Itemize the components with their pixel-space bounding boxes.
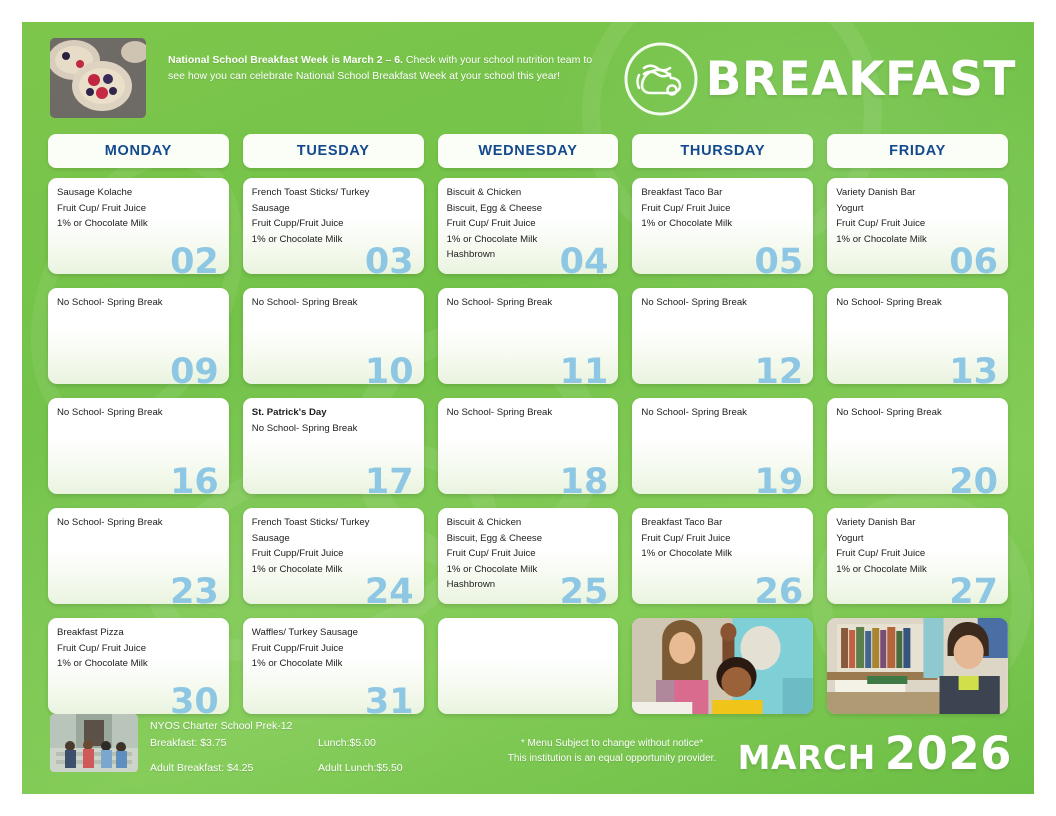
poster-header: National School Breakfast Week is March …: [22, 22, 1034, 130]
promo-text: National School Breakfast Week is March …: [168, 53, 608, 85]
menu-line: No School- Spring Break: [836, 405, 999, 421]
menu-line: Hashbrown: [447, 577, 610, 593]
day-number: 30: [170, 685, 219, 714]
weekday-header-tuesday: TUESDAY: [243, 134, 424, 168]
calendar-day-cell: French Toast Sticks/ TurkeySausageFruit …: [243, 178, 424, 274]
student-price-row: Breakfast: $3.75 Lunch:$5.00: [150, 736, 480, 751]
weekday-header-monday: MONDAY: [48, 134, 229, 168]
equal-opportunity-notice: This institution is an equal opportunity…: [462, 751, 762, 766]
menu-line: 1% or Chocolate Milk: [57, 216, 220, 232]
menu-line: Breakfast Pizza: [57, 625, 220, 641]
menu-line: Biscuit & Chicken: [447, 515, 610, 531]
menu-line: Biscuit, Egg & Cheese: [447, 531, 610, 547]
calendar-day-cell: Biscuit & ChickenBiscuit, Egg & CheeseFr…: [438, 178, 619, 274]
menu-line: Sausage: [252, 531, 415, 547]
calendar-day-cell: No School- Spring Break13: [827, 288, 1008, 384]
menu-line: Breakfast Taco Bar: [641, 185, 804, 201]
calendar-day-cell: Variety Danish BarYogurtFruit Cup/ Fruit…: [827, 508, 1008, 604]
menu-items: Biscuit & ChickenBiscuit, Egg & CheeseFr…: [447, 185, 610, 263]
menu-line: Fruit Cupp/Fruit Juice: [252, 641, 415, 657]
menu-items: St. Patrick's DayNo School- Spring Break: [252, 405, 415, 436]
menu-change-notice: * Menu Subject to change without notice*: [462, 736, 762, 751]
poster-footer: NYOS Charter School Prek-12 Breakfast: $…: [22, 702, 1034, 794]
calendar-empty-cell: [438, 618, 619, 714]
day-number: 19: [754, 465, 803, 494]
menu-line: Sausage: [252, 201, 415, 217]
day-number: 26: [754, 575, 803, 604]
menu-line: 1% or Chocolate Milk: [641, 546, 804, 562]
menu-line: 1% or Chocolate Milk: [836, 232, 999, 248]
menu-line: No School- Spring Break: [57, 405, 220, 421]
calendar-day-cell: Sausage KolacheFruit Cup/ Fruit Juice1% …: [48, 178, 229, 274]
adult-price-row: Adult Breakfast: $4.25 Adult Lunch:$5.50: [150, 761, 480, 776]
menu-line: Fruit Cup/ Fruit Juice: [447, 546, 610, 562]
holiday-label: St. Patrick's Day: [252, 405, 415, 421]
brand-lockup: BREAKFAST: [622, 40, 1016, 118]
day-number: 02: [170, 245, 219, 274]
students-classroom-hand-raised-photo: [632, 618, 813, 714]
menu-line: Fruit Cup/ Fruit Juice: [641, 201, 804, 217]
year-label: 2026: [885, 727, 1012, 780]
menu-line: 1% or Chocolate Milk: [252, 232, 415, 248]
calendar-day-cell: No School- Spring Break20: [827, 398, 1008, 494]
adult-breakfast-price: Adult Breakfast: $4.25: [150, 761, 318, 776]
students-school-entrance-photo: [50, 714, 138, 772]
legal-notice: * Menu Subject to change without notice*…: [462, 736, 762, 766]
day-number: 20: [949, 465, 998, 494]
oatmeal-bowl-photo: [50, 38, 146, 118]
menu-line: 1% or Chocolate Milk: [252, 656, 415, 672]
menu-line: Fruit Cupp/Fruit Juice: [252, 546, 415, 562]
menu-line: No School- Spring Break: [836, 295, 999, 311]
day-number: 03: [365, 245, 414, 274]
day-number: 12: [754, 355, 803, 384]
weekday-header-wednesday: WEDNESDAY: [438, 134, 619, 168]
menu-line: Sausage Kolache: [57, 185, 220, 201]
menu-poster: National School Breakfast Week is March …: [22, 22, 1034, 794]
menu-items: No School- Spring Break: [57, 405, 220, 421]
price-block: NYOS Charter School Prek-12 Breakfast: $…: [150, 719, 480, 776]
menu-items: No School- Spring Break: [447, 295, 610, 311]
menu-line: Waffles/ Turkey Sausage: [252, 625, 415, 641]
lunch-price: Lunch:$5.00: [318, 736, 376, 751]
menu-line: Yogurt: [836, 531, 999, 547]
menu-items: No School- Spring Break: [641, 295, 804, 311]
calendar-day-cell: French Toast Sticks/ TurkeySausageFruit …: [243, 508, 424, 604]
menu-line: No School- Spring Break: [641, 405, 804, 421]
menu-items: Variety Danish BarYogurtFruit Cup/ Fruit…: [836, 185, 999, 247]
menu-line: No School- Spring Break: [57, 295, 220, 311]
menu-items: No School- Spring Break: [836, 295, 999, 311]
menu-items: Breakfast Taco BarFruit Cup/ Fruit Juice…: [641, 515, 804, 562]
calendar-day-cell: Waffles/ Turkey SausageFruit Cupp/Fruit …: [243, 618, 424, 714]
school-name: NYOS Charter School Prek-12: [150, 719, 480, 734]
calendar-day-cell: Breakfast Taco BarFruit Cup/ Fruit Juice…: [632, 178, 813, 274]
menu-line: Fruit Cupp/Fruit Juice: [252, 216, 415, 232]
weekday-header-row: MONDAY TUESDAY WEDNESDAY THURSDAY FRIDAY: [48, 134, 1008, 168]
menu-line: Variety Danish Bar: [836, 185, 999, 201]
menu-line: 1% or Chocolate Milk: [57, 656, 220, 672]
menu-line: Variety Danish Bar: [836, 515, 999, 531]
brand-title: BREAKFAST: [706, 56, 1016, 103]
calendar-day-cell: No School- Spring Break18: [438, 398, 619, 494]
menu-line: 1% or Chocolate Milk: [641, 216, 804, 232]
menu-items: Biscuit & ChickenBiscuit, Egg & CheeseFr…: [447, 515, 610, 593]
calendar-day-cell: No School- Spring Break23: [48, 508, 229, 604]
day-number: 10: [365, 355, 414, 384]
menu-line: Breakfast Taco Bar: [641, 515, 804, 531]
calendar-day-cell: Breakfast PizzaFruit Cup/ Fruit Juice1% …: [48, 618, 229, 714]
calendar-day-cell: No School- Spring Break19: [632, 398, 813, 494]
weekday-header-thursday: THURSDAY: [632, 134, 813, 168]
day-number: 05: [754, 245, 803, 274]
day-number: 09: [170, 355, 219, 384]
menu-items: No School- Spring Break: [57, 295, 220, 311]
adult-lunch-price: Adult Lunch:$5.50: [318, 761, 403, 776]
menu-line: Biscuit, Egg & Cheese: [447, 201, 610, 217]
menu-items: Breakfast PizzaFruit Cup/ Fruit Juice1% …: [57, 625, 220, 672]
menu-line: No School- Spring Break: [447, 405, 610, 421]
menu-line: Hashbrown: [447, 247, 610, 263]
breakfast-price: Breakfast: $3.75: [150, 736, 318, 751]
menu-line: 1% or Chocolate Milk: [447, 562, 610, 578]
menu-line: 1% or Chocolate Milk: [252, 562, 415, 578]
menu-line: Fruit Cup/ Fruit Juice: [447, 216, 610, 232]
calendar-grid: Sausage KolacheFruit Cup/ Fruit Juice1% …: [48, 178, 1008, 714]
menu-items: Sausage KolacheFruit Cup/ Fruit Juice1% …: [57, 185, 220, 232]
menu-line: 1% or Chocolate Milk: [447, 232, 610, 248]
menu-items: Waffles/ Turkey SausageFruit Cupp/Fruit …: [252, 625, 415, 672]
menu-items: No School- Spring Break: [641, 405, 804, 421]
day-number: 24: [365, 575, 414, 604]
menu-line: Fruit Cup/ Fruit Juice: [641, 531, 804, 547]
calendar-day-cell: Variety Danish BarYogurtFruit Cup/ Fruit…: [827, 178, 1008, 274]
day-number: 27: [949, 575, 998, 604]
menu-items: No School- Spring Break: [836, 405, 999, 421]
month-label: MARCH: [738, 738, 876, 777]
menu-items: No School- Spring Break: [447, 405, 610, 421]
menu-items: No School- Spring Break: [57, 515, 220, 531]
day-number: 18: [560, 465, 609, 494]
student-library-photo: [827, 618, 1008, 714]
menu-line: No School- Spring Break: [641, 295, 804, 311]
calendar-day-cell: Breakfast Taco BarFruit Cup/ Fruit Juice…: [632, 508, 813, 604]
calendar-day-cell: No School- Spring Break09: [48, 288, 229, 384]
menu-line: Yogurt: [836, 201, 999, 217]
calendar-day-cell: No School- Spring Break12: [632, 288, 813, 384]
menu-line: French Toast Sticks/ Turkey: [252, 515, 415, 531]
menu-line: No School- Spring Break: [252, 295, 415, 311]
month-year-stamp: MARCH 2026: [738, 727, 1012, 780]
menu-items: French Toast Sticks/ TurkeySausageFruit …: [252, 515, 415, 577]
day-number: 06: [949, 245, 998, 274]
menu-line: Biscuit & Chicken: [447, 185, 610, 201]
menu-line: Fruit Cup/ Fruit Juice: [836, 546, 999, 562]
calendar-day-cell: No School- Spring Break11: [438, 288, 619, 384]
day-number: 13: [949, 355, 998, 384]
menu-line: No School- Spring Break: [447, 295, 610, 311]
menu-line: Fruit Cup/ Fruit Juice: [57, 201, 220, 217]
breakfast-plate-icon: [622, 40, 700, 118]
menu-items: No School- Spring Break: [252, 295, 415, 311]
day-number: 16: [170, 465, 219, 494]
promo-bold-lead: National School Breakfast Week is March …: [168, 54, 403, 66]
menu-line: French Toast Sticks/ Turkey: [252, 185, 415, 201]
menu-line: No School- Spring Break: [252, 421, 415, 437]
calendar-day-cell: No School- Spring Break16: [48, 398, 229, 494]
calendar-day-cell: St. Patrick's DayNo School- Spring Break…: [243, 398, 424, 494]
menu-items: Breakfast Taco BarFruit Cup/ Fruit Juice…: [641, 185, 804, 232]
calendar-day-cell: Biscuit & ChickenBiscuit, Egg & CheeseFr…: [438, 508, 619, 604]
day-number: 11: [560, 355, 609, 384]
menu-line: No School- Spring Break: [57, 515, 220, 531]
menu-line: 1% or Chocolate Milk: [836, 562, 999, 578]
menu-line: Fruit Cup/ Fruit Juice: [836, 216, 999, 232]
day-number: 23: [170, 575, 219, 604]
menu-items: French Toast Sticks/ TurkeySausageFruit …: [252, 185, 415, 247]
day-number: 17: [365, 465, 414, 494]
menu-line: Fruit Cup/ Fruit Juice: [57, 641, 220, 657]
day-number: 31: [365, 685, 414, 714]
calendar-day-cell: No School- Spring Break10: [243, 288, 424, 384]
weekday-header-friday: FRIDAY: [827, 134, 1008, 168]
menu-items: Variety Danish BarYogurtFruit Cup/ Fruit…: [836, 515, 999, 577]
